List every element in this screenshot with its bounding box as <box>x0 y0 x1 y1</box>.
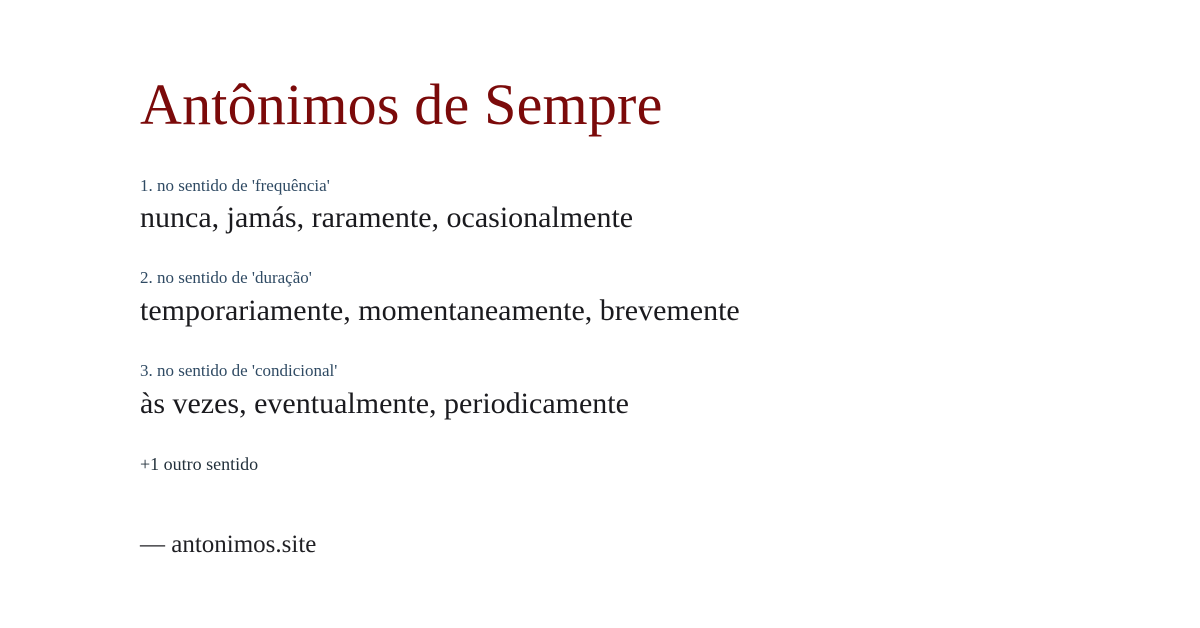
sense-label: 1. no sentido de 'frequência' <box>140 175 1140 196</box>
sense-answers: nunca, jamás, raramente, ocasionalmente <box>140 200 1140 237</box>
sense-label: 2. no sentido de 'duração' <box>140 267 1140 288</box>
antonyms-card: Antônimos de Sempre 1. no sentido de 'fr… <box>0 0 1200 628</box>
sense-entry: 1. no sentido de 'frequência' nunca, jam… <box>140 175 1140 237</box>
attribution: — antonimos.site <box>140 529 1140 560</box>
more-senses-note: +1 outro sentido <box>140 453 1140 476</box>
sense-entry: 2. no sentido de 'duração' temporariamen… <box>140 267 1140 329</box>
sense-answers: às vezes, eventualmente, periodicamente <box>140 386 1140 423</box>
page-title: Antônimos de Sempre <box>140 74 1140 137</box>
sense-list: 1. no sentido de 'frequência' nunca, jam… <box>140 175 1140 423</box>
sense-answers: temporariamente, momentaneamente, brevem… <box>140 293 1140 330</box>
sense-entry: 3. no sentido de 'condicional' às vezes,… <box>140 360 1140 422</box>
sense-label: 3. no sentido de 'condicional' <box>140 360 1140 381</box>
